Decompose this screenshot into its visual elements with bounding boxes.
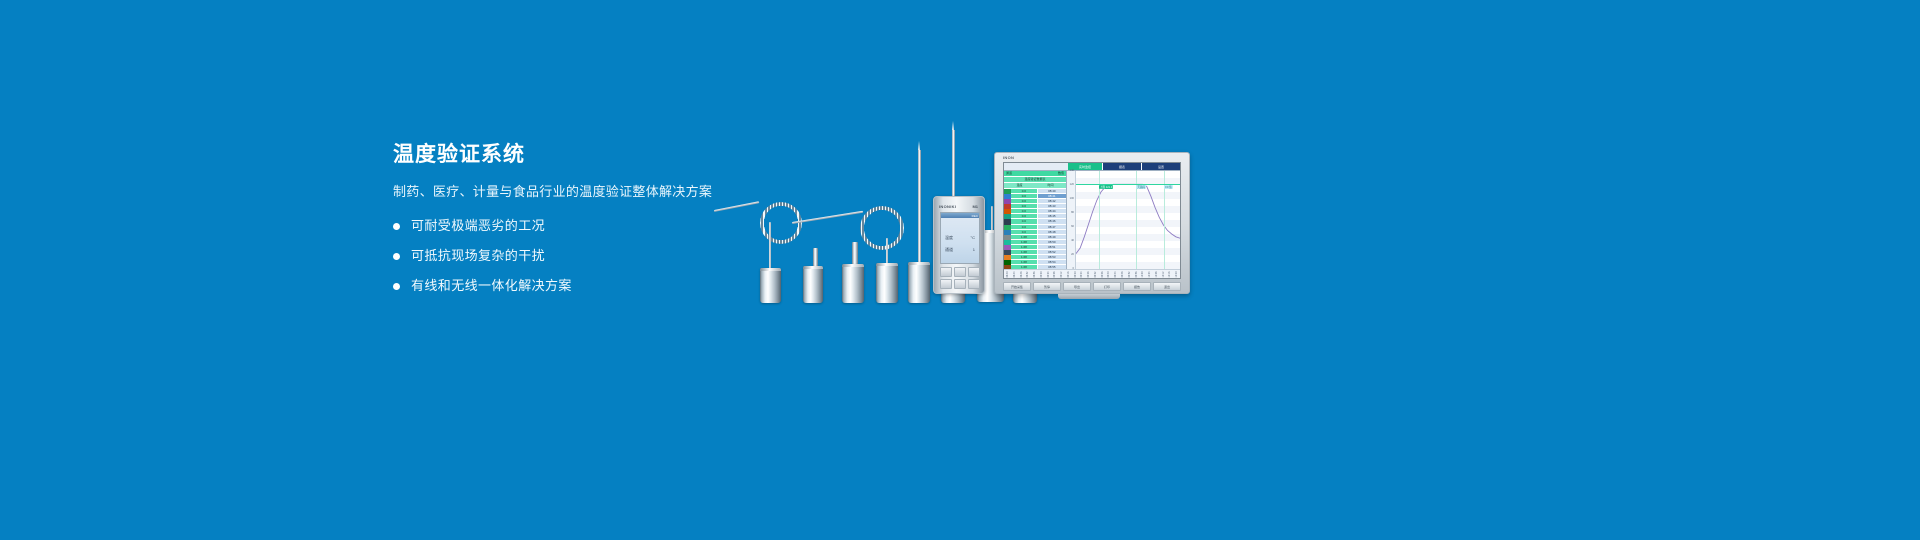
probe-body-2: [803, 266, 823, 303]
handheld-readout-row-1: 温度 °C: [945, 235, 975, 241]
bullet-dot-icon: [393, 223, 400, 230]
software-action-button[interactable]: 退出: [1153, 282, 1181, 291]
probe-stem-7: [991, 206, 993, 232]
x-axis-tick-label: 09:16: [1067, 271, 1070, 278]
x-axis-tick-label: 09:04: [1046, 271, 1049, 278]
x-axis-tick-label: 09:36: [1101, 271, 1104, 278]
column-header-temp: 温度: [1004, 183, 1035, 188]
probe-body-1: [760, 268, 781, 303]
handheld-key[interactable]: [940, 267, 952, 277]
x-axis-tick-label: 10:04: [1148, 271, 1151, 278]
x-axis-tick-label: 09:00: [1040, 271, 1043, 278]
x-axis-tick-label: 09:44: [1114, 271, 1117, 278]
y-axis-tick-label: 40: [1071, 239, 1074, 242]
chart-plot-area[interactable]: 上限 121.0灭菌段F0 值: [1076, 171, 1180, 269]
handheld-readout-label-1: 温度: [945, 235, 953, 241]
bullet-dot-icon: [393, 283, 400, 290]
handheld-screen: REC 温度 °C 通道 1: [940, 212, 980, 264]
software-action-button[interactable]: 导出: [1063, 282, 1091, 291]
software-action-button[interactable]: 暂停: [1033, 282, 1061, 291]
x-axis-tick-label: 09:56: [1134, 271, 1137, 278]
temperature-chart[interactable]: 140120100806040200 上限 121.0灭菌段F0 值: [1067, 171, 1180, 269]
software-screen: 实时监控 报表 设置 通道 数值 温度验证数据表 温度 时间 0.008:400…: [1003, 162, 1181, 279]
feature-label-2: 可抵抗现场复杂的干扰: [411, 247, 545, 265]
y-axis-tick-label: 140: [1070, 169, 1074, 172]
probe-stem-1: [769, 222, 771, 270]
software-toolbar[interactable]: 实时监控 报表 设置: [1004, 163, 1180, 171]
probe-coil-2: [860, 206, 904, 250]
probe-stem-4: [886, 238, 888, 266]
x-axis-tick-label: 10:12: [1161, 271, 1164, 278]
handheld-logger-device[interactable]: INONIKI M1 REC 温度 °C 通道 1: [933, 196, 985, 294]
probe-cap-2: [813, 248, 818, 268]
column-header-time: 时间: [1035, 183, 1066, 188]
x-axis-tick-label: 08:44: [1013, 271, 1016, 278]
toolbar-tab-report[interactable]: 报表: [1102, 163, 1141, 170]
software-action-button[interactable]: 报告: [1123, 282, 1151, 291]
handheld-readout-value-2: 1: [973, 247, 975, 253]
handheld-key[interactable]: [940, 279, 952, 289]
y-axis-tick-label: 20: [1071, 253, 1074, 256]
handheld-readout-row-2: 通道 1: [945, 247, 975, 253]
x-axis-tick-label: 08:48: [1019, 271, 1022, 278]
x-axis-tick-label: 09:48: [1121, 271, 1124, 278]
handheld-screen-titlebar: REC: [941, 213, 979, 218]
x-axis-tick-label: 09:20: [1074, 271, 1077, 278]
chart-x-axis: 08:4008:4408:4808:5208:5609:0009:0409:08…: [1004, 269, 1180, 278]
chart-y-axis: 140120100806040200: [1067, 171, 1076, 269]
x-axis-tick-label: 09:40: [1107, 271, 1110, 278]
monitor-stand: [1058, 294, 1120, 299]
probe-cable-2: [792, 211, 863, 224]
handheld-key[interactable]: [968, 267, 980, 277]
software-body: 通道 数值 温度验证数据表 温度 时间 0.008:400.008:410.00…: [1004, 171, 1180, 269]
data-table-rows[interactable]: 0.008:400.008:410.008:420.008:430.008:44…: [1004, 189, 1066, 269]
x-axis-tick-label: 10:16: [1168, 271, 1171, 278]
x-axis-tick-label: 08:52: [1026, 271, 1029, 278]
validation-software-monitor: INON 实时监控 报表 设置 通道 数值 温度验证数据表 温度 时间: [994, 152, 1190, 294]
software-action-button[interactable]: 开始采集: [1003, 282, 1031, 291]
x-axis-tick-label: 09:32: [1094, 271, 1097, 278]
x-axis-tick-label: 09:24: [1080, 271, 1083, 278]
monitor-brand-label: INON: [1003, 155, 1014, 160]
handheld-readout-label-2: 通道: [945, 247, 953, 253]
chart-annotation: 灭菌段: [1136, 185, 1146, 189]
y-axis-tick-label: 100: [1070, 197, 1074, 200]
hero-banner: 温度验证系统 制药、医疗、计量与食品行业的温度验证整体解决方案 可耐受极端恶劣的…: [0, 0, 1920, 540]
x-axis-tick-label: 10:00: [1141, 271, 1144, 278]
handheld-readout-value-1: °C: [971, 235, 976, 241]
y-axis-tick-label: 80: [1071, 211, 1074, 214]
x-axis-tick-label: 08:56: [1033, 271, 1036, 278]
handheld-key[interactable]: [968, 279, 980, 289]
needle-probe-1: [918, 150, 921, 264]
software-bottom-toolbar[interactable]: 开始采集暂停导出打印报告退出: [1003, 282, 1181, 291]
probe-body-5: [908, 262, 930, 303]
x-axis-tick-label: 09:28: [1087, 271, 1090, 278]
x-axis-tick-label: 09:08: [1053, 271, 1056, 278]
probe-body-4: [876, 263, 898, 303]
toolbar-tab-settings[interactable]: 设置: [1141, 163, 1180, 170]
handheld-keypad[interactable]: [940, 267, 980, 289]
x-axis-tick-label: 08:40: [1006, 271, 1009, 278]
feature-label-3: 有线和无线一体化解决方案: [411, 277, 572, 295]
y-axis-tick-label: 60: [1071, 225, 1074, 228]
y-axis-tick-label: 120: [1070, 183, 1074, 186]
handheld-model-label: M1: [972, 204, 978, 209]
x-axis-tick-label: 09:12: [1060, 271, 1063, 278]
chart-annotation: F0 值: [1164, 185, 1172, 189]
chart-annotation: 上限 121.0: [1099, 185, 1113, 189]
data-table-header-right: 数值: [1058, 171, 1064, 175]
probe-body-3: [842, 264, 864, 303]
data-table-header-left: 通道: [1006, 171, 1012, 175]
x-axis-tick-label: 09:52: [1128, 271, 1131, 278]
software-action-button[interactable]: 打印: [1093, 282, 1121, 291]
probe-cable-1: [714, 201, 760, 212]
channel-data-table[interactable]: 通道 数值 温度验证数据表 温度 时间 0.008:400.008:410.00…: [1004, 171, 1067, 269]
toolbar-spacer: [1004, 163, 1068, 170]
x-axis-tick-label: 10:08: [1155, 271, 1158, 278]
handheld-brand-label: INONIKI: [939, 204, 956, 209]
handheld-key[interactable]: [954, 267, 966, 277]
y-axis-tick-label: 0: [1073, 267, 1074, 270]
feature-label-1: 可耐受极端恶劣的工况: [411, 217, 545, 235]
x-axis-tick-label: 10:20: [1175, 271, 1178, 278]
handheld-key[interactable]: [954, 279, 966, 289]
handheld-screen-title: REC: [972, 214, 978, 218]
bullet-dot-icon: [393, 253, 400, 260]
